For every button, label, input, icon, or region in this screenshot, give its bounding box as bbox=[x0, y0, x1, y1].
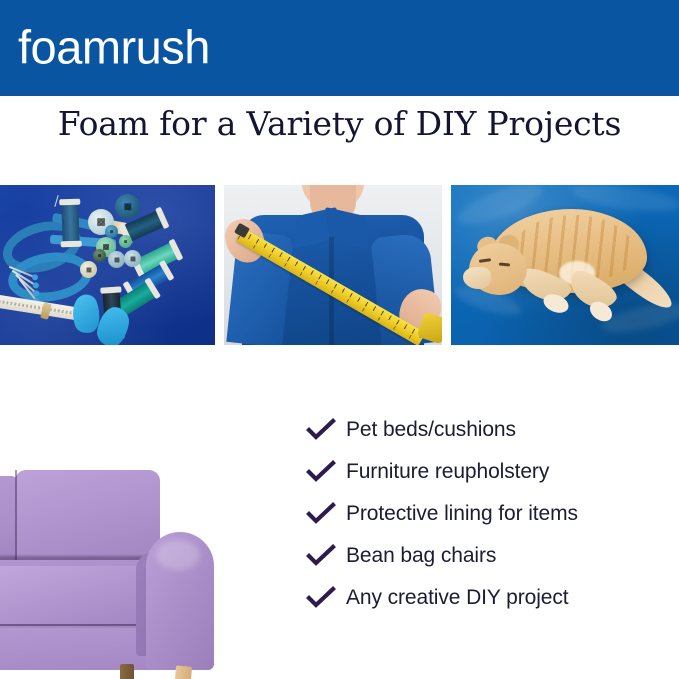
check-icon bbox=[306, 460, 346, 484]
page-title: Foam for a Variety of DIY Projects bbox=[0, 104, 679, 143]
sewing-button bbox=[105, 225, 118, 238]
sewing-button bbox=[119, 235, 132, 248]
list-item-label: Bean bag chairs bbox=[346, 544, 496, 568]
sewing-button bbox=[124, 250, 141, 267]
brand-logo: foamrush bbox=[18, 24, 210, 71]
thread-spool bbox=[61, 201, 80, 246]
check-icon bbox=[306, 502, 346, 526]
brand-banner: foamrush bbox=[0, 0, 679, 96]
sewing-button bbox=[115, 194, 140, 219]
tape-measure-photo bbox=[224, 185, 442, 345]
cat-on-cushion-photo bbox=[451, 185, 679, 345]
list-item: Bean bag chairs bbox=[306, 535, 676, 577]
list-item: Furniture reupholstery bbox=[306, 451, 676, 493]
list-item-label: Any creative DIY project bbox=[346, 586, 568, 610]
list-item: Any creative DIY project bbox=[306, 577, 676, 619]
sewing-button bbox=[108, 251, 125, 268]
list-item-label: Protective lining for items bbox=[346, 502, 578, 526]
cat-muzzle bbox=[463, 267, 491, 289]
check-icon bbox=[306, 544, 346, 568]
check-icon bbox=[306, 586, 346, 610]
sewing-button bbox=[93, 249, 106, 262]
list-item-label: Furniture reupholstery bbox=[346, 460, 549, 484]
purple-sofa-illustration bbox=[0, 448, 260, 679]
list-item: Protective lining for items bbox=[306, 493, 676, 535]
sofa-leg-back bbox=[120, 664, 134, 679]
check-icon bbox=[306, 418, 346, 442]
sewing-button bbox=[80, 261, 97, 278]
photo-strip bbox=[0, 185, 679, 345]
list-item: Pet beds/cushions bbox=[306, 409, 676, 451]
list-item-label: Pet beds/cushions bbox=[346, 418, 516, 442]
benefits-list: Pet beds/cushions Furniture reupholstery… bbox=[306, 409, 676, 619]
sofa-arm-highlight bbox=[156, 540, 200, 570]
sofa-leg-front bbox=[172, 665, 192, 679]
sewing-supplies-photo bbox=[0, 185, 215, 345]
marketing-infographic: foamrush Foam for a Variety of DIY Proje… bbox=[0, 0, 679, 679]
